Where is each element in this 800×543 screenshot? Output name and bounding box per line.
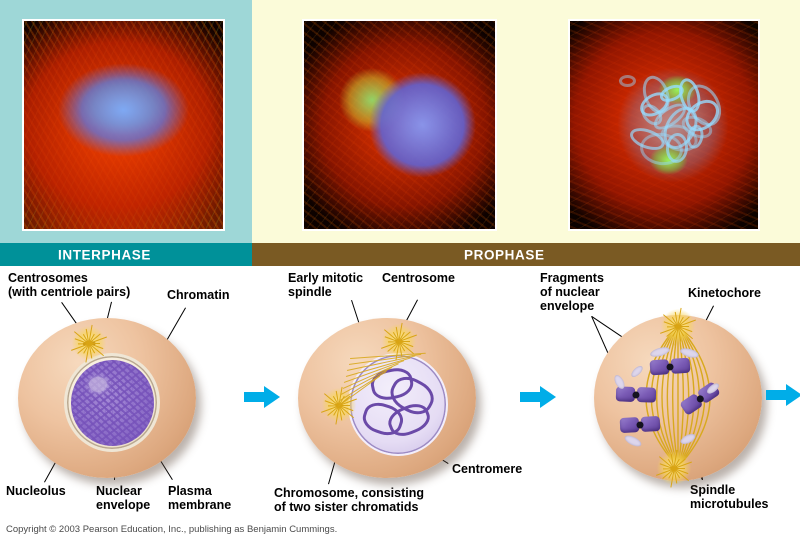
interphase-banner-label: INTERPHASE (58, 247, 151, 262)
prophase-micrograph (302, 19, 497, 231)
arrow-prophase-to-prometaphase (520, 386, 556, 408)
nucleus (64, 353, 160, 452)
interphase-cell (18, 318, 196, 478)
label-spindle-microtubules: Spindle microtubules (690, 483, 769, 511)
centrosome (661, 309, 695, 343)
label-chromatin: Chromatin (167, 288, 230, 302)
diagram-band: Centrosomes (with centriole pairs) Chrom… (0, 266, 800, 521)
label-nucleolus: Nucleolus (6, 484, 66, 498)
chromosome (620, 416, 661, 433)
interphase-banner: INTERPHASE (0, 243, 252, 266)
arrow-prometaphase-to-next (766, 384, 800, 406)
label-centrosomes: Centrosomes (with centriole pairs) (8, 271, 130, 299)
copyright-notice: Copyright © 2003 Pearson Education, Inc.… (6, 524, 337, 535)
centrosome-pair (72, 326, 106, 360)
prophase-banner: PROPHASE (252, 243, 800, 266)
chromatin (71, 360, 154, 446)
label-centrosome: Centrosome (382, 271, 455, 285)
prophase-banner-label: PROPHASE (464, 247, 545, 262)
label-chromosome-sister-chromatids: Chromosome, consisting of two sister chr… (274, 486, 424, 514)
label-kinetochore: Kinetochore (688, 286, 761, 300)
prophase-cell (298, 318, 476, 478)
centrosome (657, 451, 691, 485)
prometaphase-cell (594, 315, 762, 481)
prometaphase-micrograph (568, 19, 760, 231)
arrow-interphase-to-prophase (244, 386, 280, 408)
nucleolus (89, 377, 107, 392)
early-mitotic-spindle (298, 318, 476, 478)
label-plasma-membrane: Plasma membrane (168, 484, 231, 512)
micrograph-band (0, 0, 800, 243)
label-nuclear-envelope: Nuclear envelope (96, 484, 150, 512)
label-nuclear-envelope-fragments: Fragments of nuclear envelope (540, 271, 604, 313)
chromosome (650, 358, 691, 376)
interphase-micrograph (22, 19, 225, 231)
mitosis-figure: INTERPHASE PROPHASE Centrosomes (with ce… (0, 0, 800, 543)
label-early-mitotic-spindle: Early mitotic spindle (288, 271, 363, 299)
